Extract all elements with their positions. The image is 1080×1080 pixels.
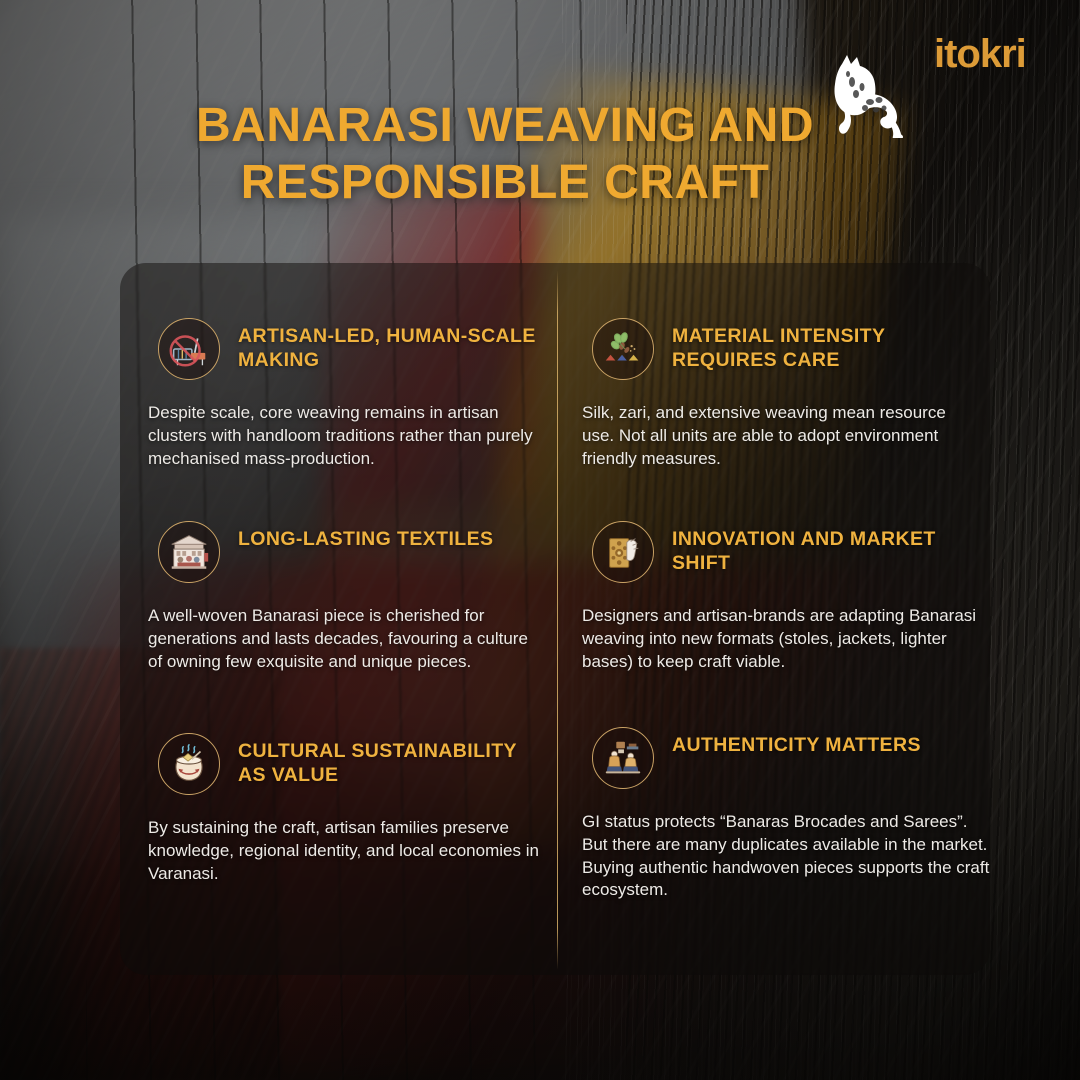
card-title: INNOVATION AND MARKET SHIFT [672,521,982,575]
card-title: CULTURAL SUSTAINABILITY AS VALUE [238,733,548,787]
brand-logo[interactable]: itokri [934,34,1044,90]
card-body: GI status protects “Banaras Brocades and… [582,811,992,902]
card-title: LONG-LASTING TEXTILES [238,521,493,551]
card-body: Designers and artisan-brands are adaptin… [582,605,982,673]
page-title: BANARASI WEAVING AND RESPONSIBLE CRAFT [90,98,920,211]
hand-holding-fabric-icon [592,521,654,583]
card-long-lasting-textiles: LONG-LASTING TEXTILES A well-woven Banar… [148,521,538,673]
card-material-intensity: MATERIAL INTENSITY REQUIRES CARE Silk, z… [582,318,982,470]
infographic-canvas: itokri BANARASI WEAVING AND RESPONSIBLE … [0,0,1080,1080]
column-divider [557,270,558,970]
card-body: A well-woven Banarasi piece is cherished… [148,605,538,673]
card-title: AUTHENTICITY MATTERS [672,727,921,757]
brand-logo-text: itokri [934,34,1044,74]
no-mass-production-icon [158,318,220,380]
card-innovation-market-shift: INNOVATION AND MARKET SHIFT Designers an… [582,521,982,673]
card-cultural-sustainability: CULTURAL SUSTAINABILITY AS VALUE By sust… [148,733,548,885]
card-body: Silk, zari, and extensive weaving mean r… [582,402,982,470]
card-body: Despite scale, core weaving remains in a… [148,402,538,470]
two-artisans-seated-icon [592,727,654,789]
dye-pot-icon [158,733,220,795]
card-title: MATERIAL INTENSITY REQUIRES CARE [672,318,982,372]
card-authenticity-matters: AUTHENTICITY MATTERS GI status protects … [582,727,992,902]
natural-dye-leaves-icon [592,318,654,380]
craft-shop-icon [158,521,220,583]
card-body: By sustaining the craft, artisan familie… [148,817,548,885]
card-title: ARTISAN-LED, HUMAN-SCALE MAKING [238,318,538,372]
card-artisan-led: ARTISAN-LED, HUMAN-SCALE MAKING Despite … [148,318,538,470]
